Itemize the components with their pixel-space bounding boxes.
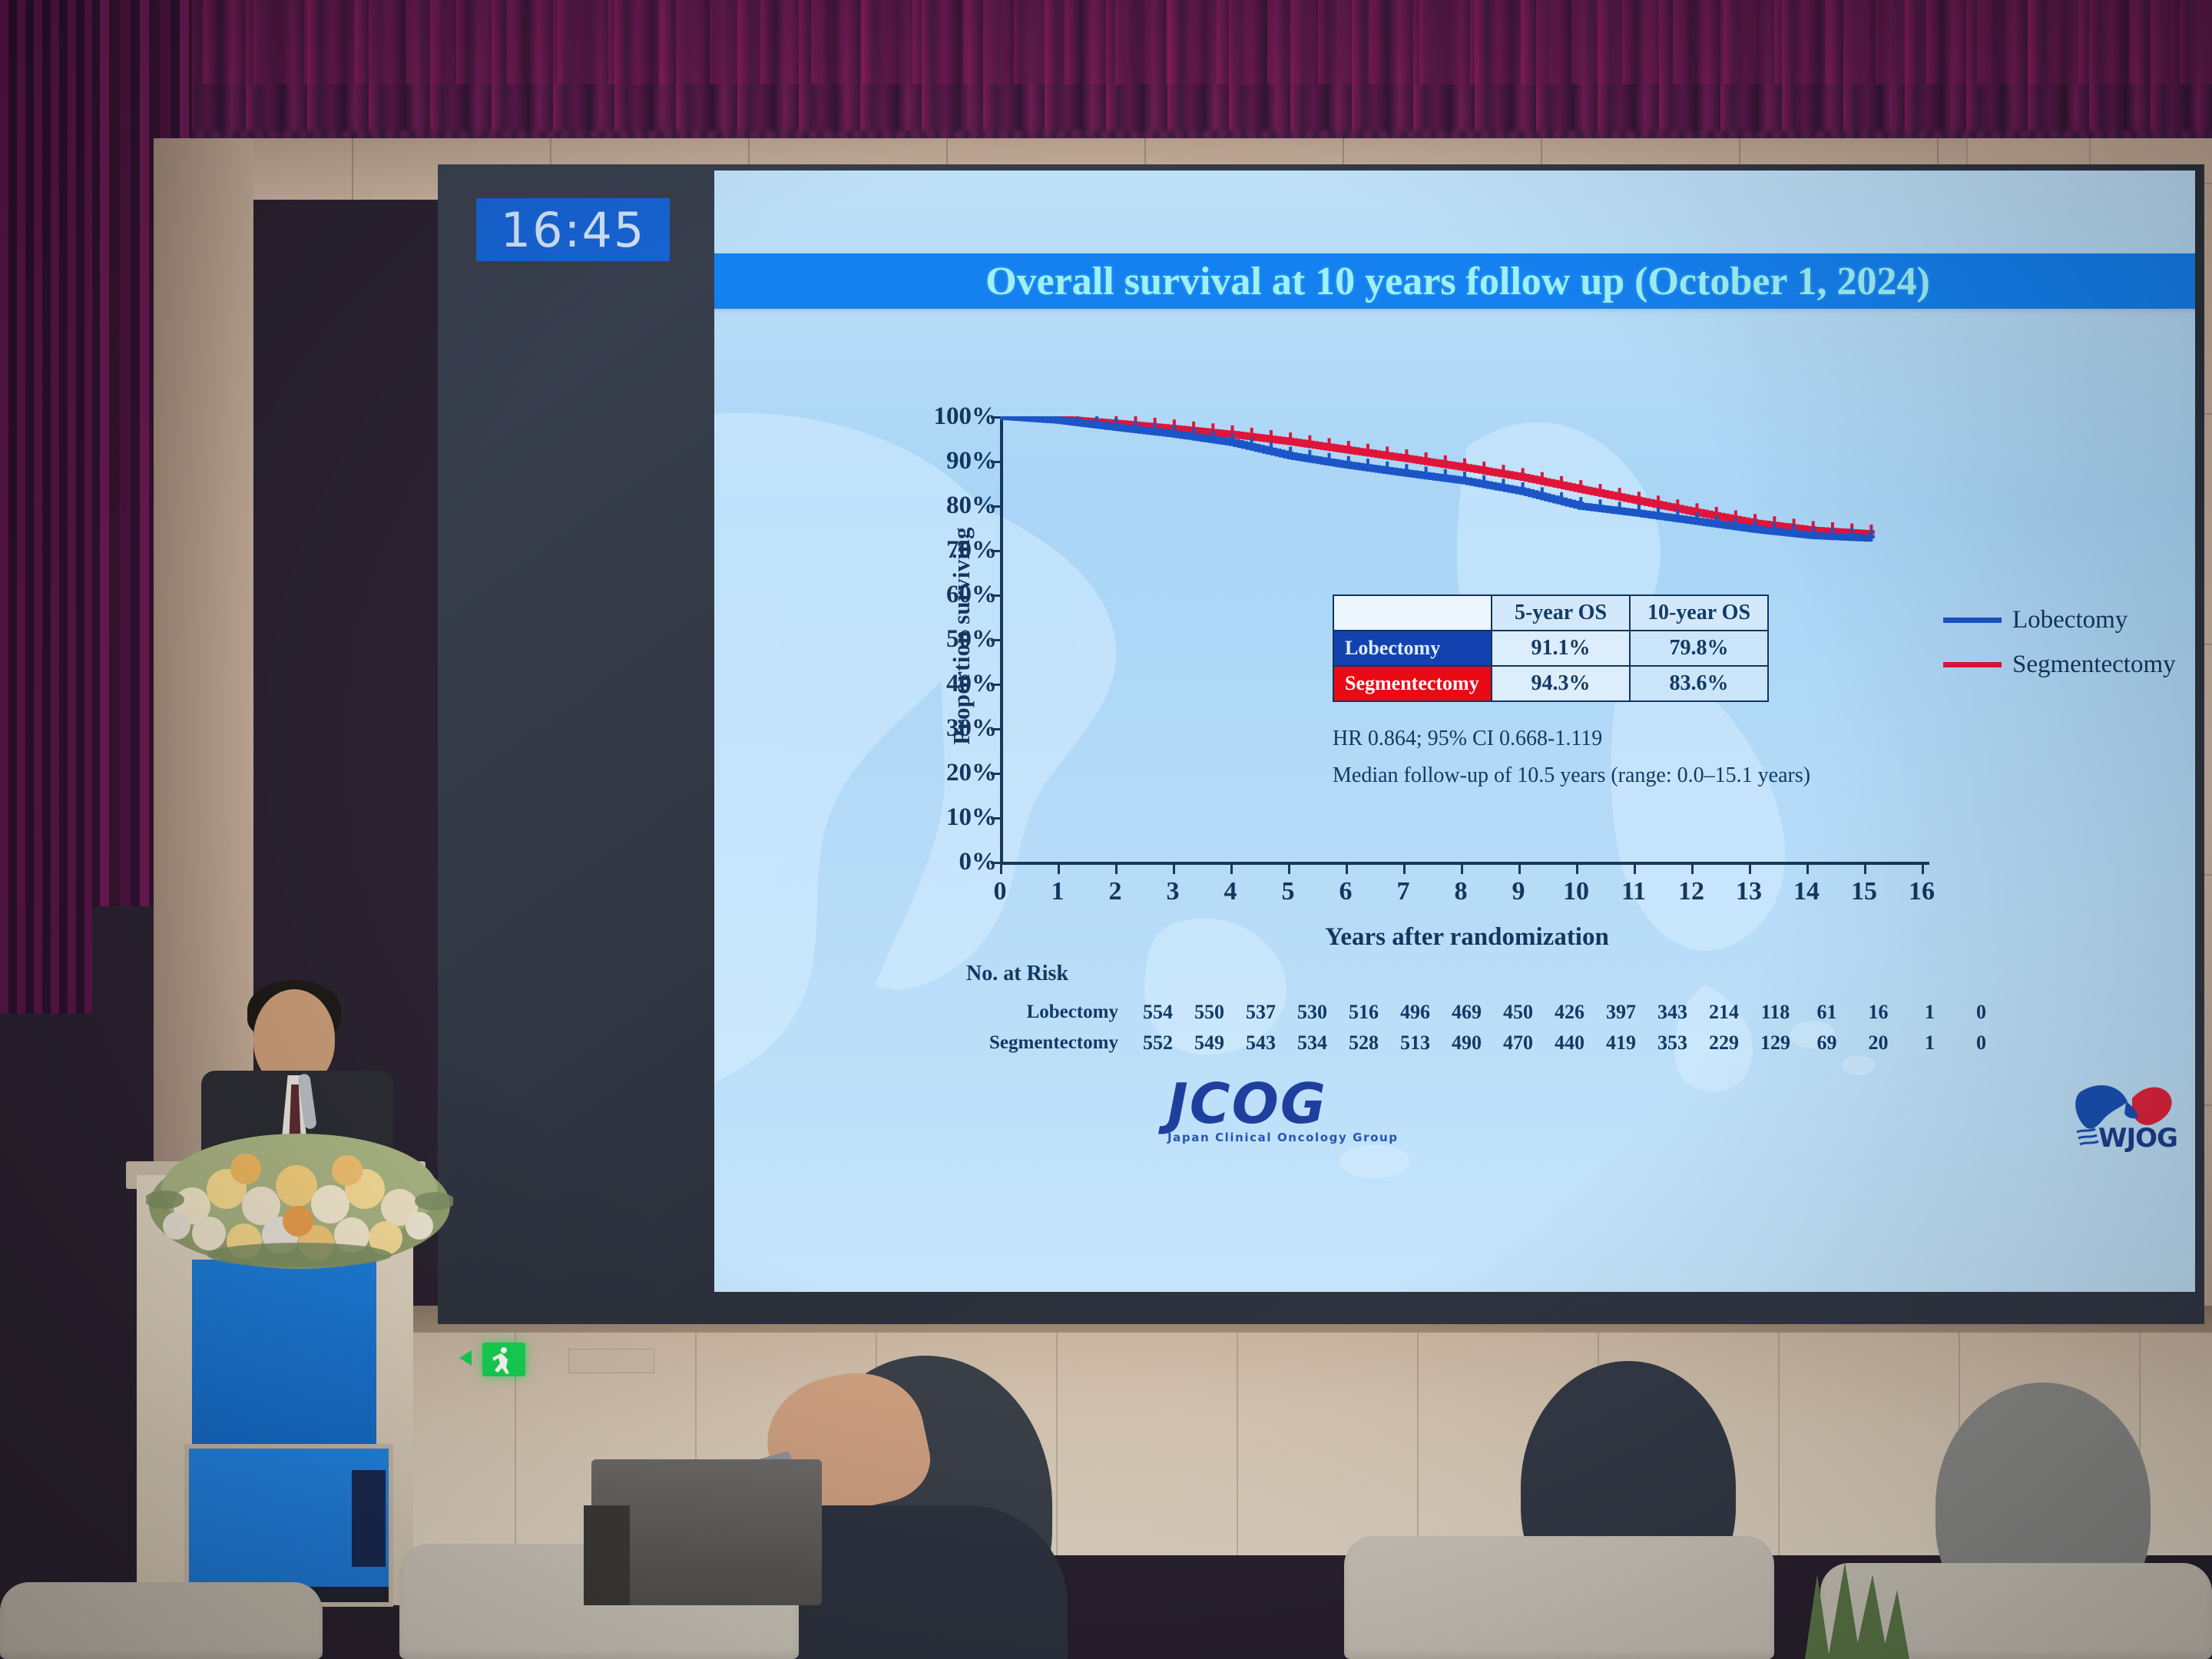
risk-cell: 353 (1647, 1031, 1698, 1055)
lobectomy-10yr-os: 79.8% (1630, 631, 1768, 666)
y-tick-10: 10% (882, 803, 997, 832)
stage-floor-seams (154, 1333, 2212, 1555)
risk-cell: 528 (1338, 1031, 1389, 1055)
stage-curtain-highlight (0, 0, 2212, 84)
table-header-row: 5-year OS 10-year OS (1333, 595, 1768, 631)
presentation-slide: Overall survival at 10 years follow up (… (714, 171, 2195, 1292)
risk-cell: 543 (1235, 1031, 1286, 1055)
y-tick-40: 40% (882, 670, 997, 698)
risk-row-label-segmentectomy: Segmentectomy (937, 1032, 1132, 1054)
session-clock: 16:45 (476, 198, 670, 261)
stage-cable-box (584, 1505, 630, 1605)
wjog-logo: WJOG (2066, 1075, 2195, 1160)
wjog-logo-text: WJOG (2098, 1123, 2177, 1154)
risk-row-label-lobectomy: Lobectomy (937, 1002, 1132, 1023)
chart-legend: Lobectomy Segmentectomy (1943, 598, 2176, 687)
chair-back-center (1344, 1536, 1774, 1659)
risk-cell: 20 (1853, 1031, 1904, 1055)
y-tick-20: 20% (882, 759, 997, 787)
risk-cell: 490 (1441, 1031, 1492, 1055)
x-tick-14: 14 (1783, 877, 1830, 906)
running-person-icon (482, 1343, 525, 1376)
number-at-risk-table: No. at Risk Lobectomy 554550537530516496… (937, 962, 2007, 1058)
risk-cell: 552 (1132, 1031, 1184, 1055)
risk-cell: 470 (1492, 1031, 1544, 1055)
risk-cell: 129 (1750, 1031, 1801, 1055)
y-tick-90: 90% (882, 447, 997, 475)
x-tick-13: 13 (1726, 877, 1772, 906)
x-tick-11: 11 (1611, 877, 1657, 906)
hazard-ratio-text: HR 0.864; 95% CI 0.668-1.119 (1333, 727, 1602, 751)
risk-cell: 550 (1184, 1001, 1235, 1024)
risk-cell: 214 (1698, 1001, 1750, 1024)
laptop-side-panel (352, 1470, 386, 1567)
x-tick-8: 8 (1438, 877, 1484, 906)
slide-title: Overall survival at 10 years follow up (… (985, 259, 1930, 304)
chart-x-axis-label: Years after randomization (1175, 923, 1759, 952)
jcog-logo-mark: JCOG (1167, 1078, 1399, 1129)
risk-cell: 0 (1955, 1001, 2007, 1024)
table-row: Lobectomy 91.1% 79.8% (1333, 631, 1768, 666)
y-tick-50: 50% (882, 625, 997, 654)
legend-label-lobectomy: Lobectomy (2012, 606, 2128, 634)
wall-door-plate (568, 1349, 654, 1373)
row-label-lobectomy: Lobectomy (1333, 631, 1492, 666)
legend-swatch-lobectomy (1943, 618, 2002, 623)
risk-row-lobectomy: Lobectomy 554550537530516496469450426397… (937, 997, 2007, 1028)
risk-cell: 549 (1184, 1031, 1235, 1055)
x-tick-9: 9 (1495, 877, 1541, 906)
risk-cell: 496 (1389, 1001, 1441, 1024)
risk-cell: 530 (1286, 1001, 1338, 1024)
y-tick-60: 60% (882, 581, 997, 609)
chart-x-axis (1000, 862, 1929, 865)
risk-cell: 554 (1132, 1001, 1184, 1024)
risk-cell: 61 (1801, 1001, 1853, 1024)
os-summary-table: 5-year OS 10-year OS Lobectomy 91.1% 79.… (1333, 594, 1769, 702)
x-tick-15: 15 (1841, 877, 1887, 906)
legend-item-segmentectomy: Segmentectomy (1943, 642, 2176, 687)
x-tick-5: 5 (1265, 877, 1311, 906)
risk-cell: 1 (1904, 1031, 1955, 1055)
x-tick-6: 6 (1323, 877, 1369, 906)
risk-cell: 229 (1698, 1031, 1750, 1055)
y-tick-100: 100% (882, 402, 997, 431)
x-tick-3: 3 (1150, 877, 1196, 906)
risk-cell: 537 (1235, 1001, 1286, 1024)
risk-cell: 118 (1750, 1001, 1801, 1024)
risk-row-segmentectomy: Segmentectomy 55254954353452851349047044… (937, 1028, 2007, 1058)
slide-title-banner: Overall survival at 10 years follow up (… (714, 253, 2195, 309)
x-tick-7: 7 (1380, 877, 1426, 906)
jcog-logo: JCOG Japan Clinical Oncology Group (1167, 1078, 1399, 1144)
risk-cell: 0 (1955, 1031, 2007, 1055)
x-tick-2: 2 (1092, 877, 1138, 906)
y-tick-80: 80% (882, 492, 997, 520)
number-at-risk-title: No. at Risk (966, 962, 2007, 986)
exit-arrow-icon (459, 1350, 472, 1366)
risk-cell: 534 (1286, 1031, 1338, 1055)
legend-item-lobectomy: Lobectomy (1943, 598, 2176, 642)
median-followup-text: Median follow-up of 10.5 years (range: 0… (1333, 763, 1810, 788)
segmentectomy-5yr-os: 94.3% (1492, 666, 1630, 701)
table-row: Segmentectomy 94.3% 83.6% (1333, 666, 1768, 701)
conference-photo: 16:45 Overall survival at 10 years follo… (0, 0, 2212, 1659)
risk-cell: 69 (1801, 1031, 1853, 1055)
risk-cell: 1 (1904, 1001, 1955, 1024)
risk-cell: 440 (1544, 1031, 1595, 1055)
decorative-plant (1774, 1528, 1928, 1659)
stage-curtain-left-edge (0, 0, 92, 1014)
kaplan-meier-chart: Proportion surviving 100% 90% 80% 70% 60… (945, 416, 2143, 908)
legend-label-segmentectomy: Segmentectomy (2012, 651, 2176, 679)
risk-cell: 516 (1338, 1001, 1389, 1024)
risk-cell: 397 (1595, 1001, 1647, 1024)
segmentectomy-10yr-os: 83.6% (1630, 666, 1768, 701)
risk-cell: 16 (1853, 1001, 1904, 1024)
risk-cell: 343 (1647, 1001, 1698, 1024)
row-label-segmentectomy: Segmentectomy (1333, 666, 1492, 701)
risk-cell: 426 (1544, 1001, 1595, 1024)
jcog-logo-subtitle: Japan Clinical Oncology Group (1167, 1131, 1399, 1144)
risk-cell: 419 (1595, 1031, 1647, 1055)
session-clock-time: 16:45 (501, 202, 646, 258)
legend-swatch-segmentectomy (1943, 662, 2002, 667)
exit-sign-icon (482, 1343, 525, 1376)
lobectomy-5yr-os: 91.1% (1492, 631, 1630, 666)
x-tick-16: 16 (1899, 877, 1945, 906)
y-tick-0: 0% (882, 848, 997, 876)
col-header-5yr: 5-year OS (1492, 595, 1630, 631)
y-tick-30: 30% (882, 714, 997, 743)
col-header-10yr: 10-year OS (1630, 595, 1768, 631)
table-corner-cell (1333, 595, 1492, 631)
x-tick-1: 1 (1035, 877, 1081, 906)
x-tick-0: 0 (977, 877, 1023, 906)
x-tick-12: 12 (1668, 877, 1714, 906)
y-tick-70: 70% (882, 536, 997, 565)
risk-cell: 513 (1389, 1031, 1441, 1055)
podium-flower-arrangement (146, 1091, 453, 1275)
chair-back-far-left (0, 1582, 323, 1659)
x-tick-4: 4 (1207, 877, 1253, 906)
risk-cell: 450 (1492, 1001, 1544, 1024)
x-tick-10: 10 (1553, 877, 1599, 906)
risk-cell: 469 (1441, 1001, 1492, 1024)
